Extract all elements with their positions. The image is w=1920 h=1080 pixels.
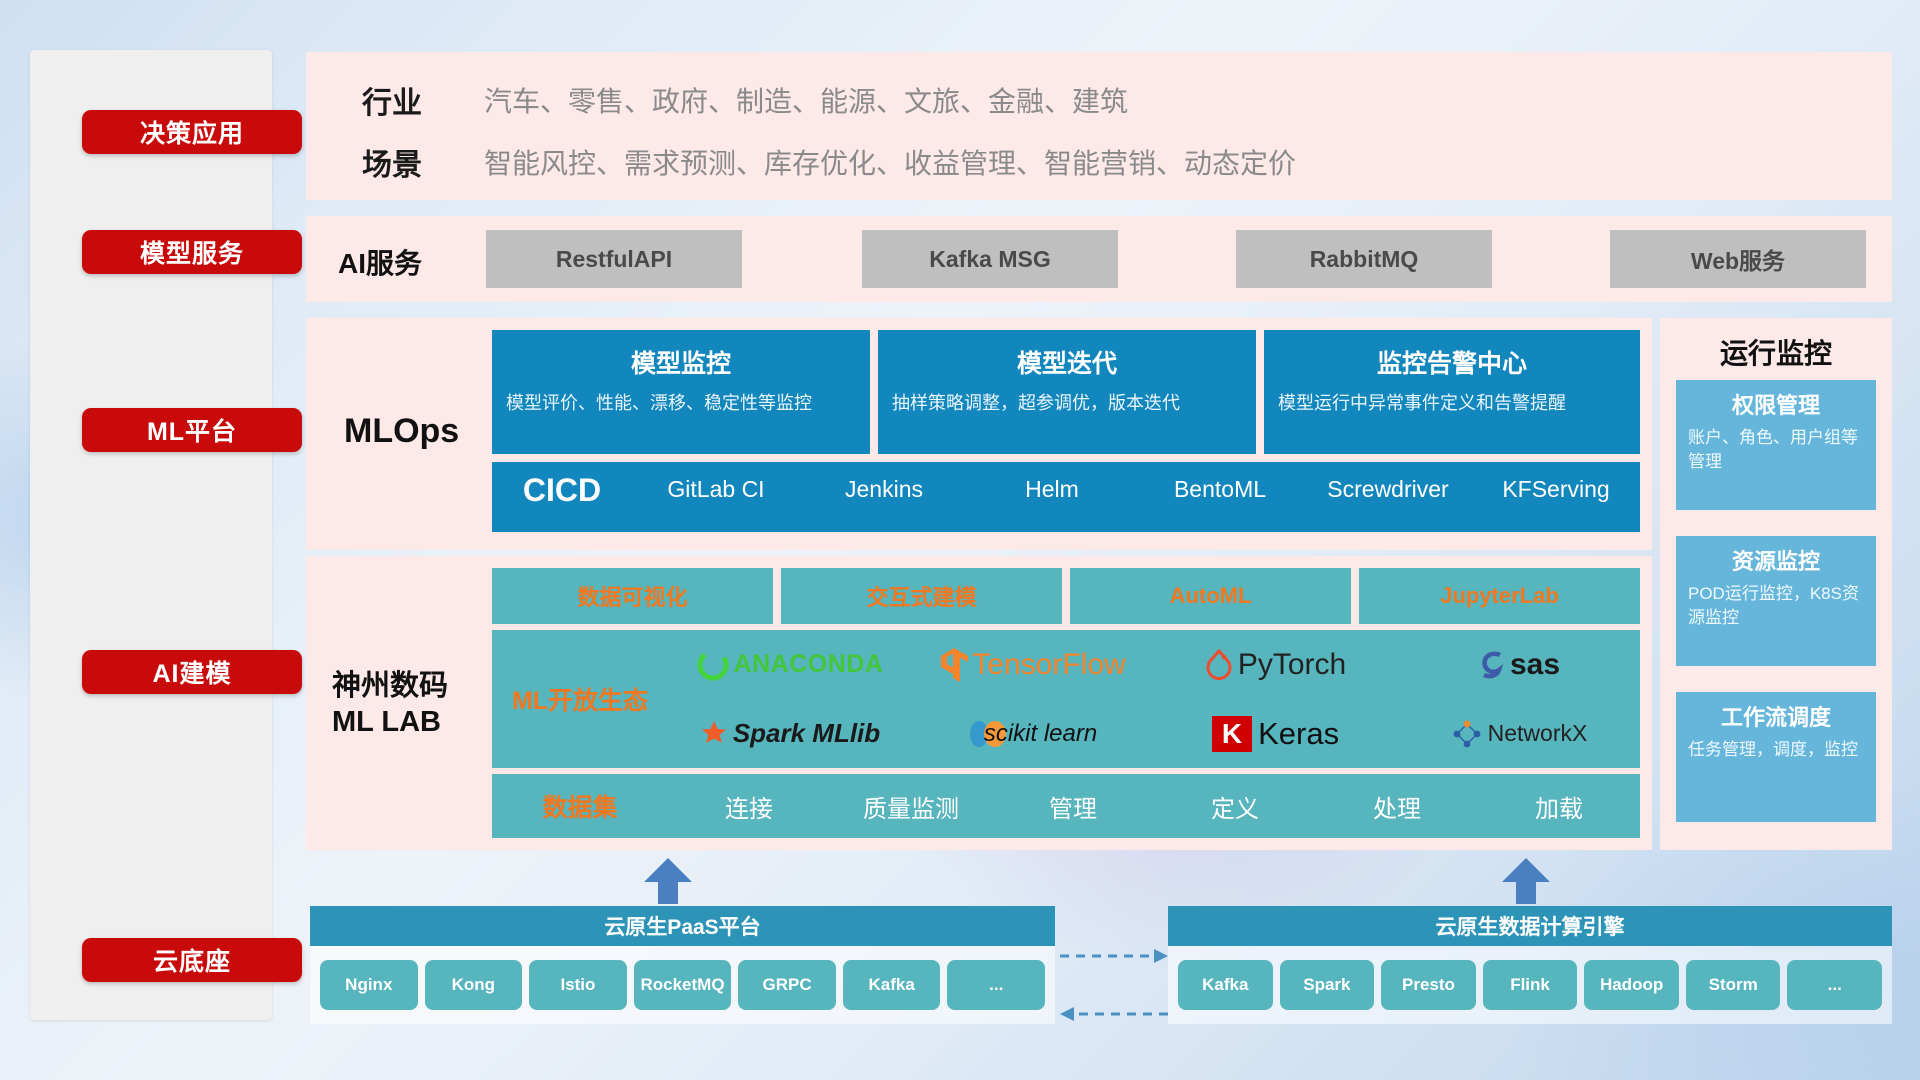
scenario-label: 场景	[362, 140, 422, 184]
card-desc: 抽样策略调整，超参调优，版本迭代	[892, 390, 1242, 416]
industry-label: 行业	[362, 78, 422, 122]
cicd-item-jenkins[interactable]: Jenkins	[800, 462, 968, 502]
ai-chip-label: RestfulAPI	[556, 246, 672, 273]
keras-logo: K Keras	[1212, 716, 1339, 752]
ai-service-label: AI服务	[338, 242, 422, 282]
cicd-row: CICD GitLab CI Jenkins Helm BentoML Scre…	[492, 462, 1640, 532]
sas-text: sas	[1510, 648, 1560, 682]
dataset-row: 数据集 连接 质量监测 管理 定义 处理 加载	[492, 774, 1640, 838]
keras-mark: K	[1212, 716, 1252, 752]
architecture-diagram: 决策应用 模型服务 ML平台 AI建模 云底座 行业 汽车、零售、政府、制造、能…	[0, 0, 1920, 1080]
rail-item-ai-modeling[interactable]: AI建模	[82, 650, 302, 694]
scenario-value: 智能风控、需求预测、库存优化、收益管理、智能营销、动态定价	[484, 142, 1296, 182]
cicd-item-bentoml[interactable]: BentoML	[1136, 462, 1304, 502]
mlops-label: MLOps	[344, 412, 459, 451]
left-rail: 决策应用 模型服务 ML平台 AI建模 云底座	[30, 50, 272, 1020]
dataset-item-define[interactable]: 定义	[1154, 789, 1316, 824]
ml-lab-tabs: 数据可视化 交互式建模 AutoML JupyterLab	[492, 568, 1640, 624]
paas-platform-title: 云原生PaaS平台	[604, 911, 760, 941]
pytorch-logo: PyTorch	[1205, 648, 1346, 682]
ml-lab-panel: 神州数码 ML LAB 数据可视化 交互式建模 AutoML JupyterLa…	[306, 556, 1652, 850]
lab-tab-interactive-modeling[interactable]: 交互式建模	[781, 568, 1062, 624]
engine-chip-more[interactable]: ...	[1787, 960, 1882, 1010]
rail-item-cloud-base[interactable]: 云底座	[82, 938, 302, 982]
anaconda-logo: ANACONDA	[696, 648, 884, 682]
dataset-item-connect[interactable]: 连接	[668, 789, 830, 824]
card-desc: 模型运行中异常事件定义和告警提醒	[1278, 390, 1626, 416]
arrow-up-right-icon	[1498, 858, 1554, 904]
card-desc: 账户、角色、用户组等管理	[1688, 426, 1864, 474]
ai-chip-web-service[interactable]: Web服务	[1610, 230, 1866, 288]
ecosystem-logo-grid: ANACONDA TensorFlow PyTorch sas Spark ML	[668, 630, 1640, 768]
ai-service-panel: AI服务 RestfulAPI Kafka MSG RabbitMQ Web服务	[306, 216, 1892, 302]
industry-scenario-panel: 行业 汽车、零售、政府、制造、能源、文旅、金融、建筑 场景 智能风控、需求预测、…	[306, 52, 1892, 200]
ai-chip-rabbitmq[interactable]: RabbitMQ	[1236, 230, 1492, 288]
sas-logo: sas	[1477, 648, 1560, 682]
paas-platform-bar: 云原生PaaS平台	[310, 906, 1055, 946]
dataset-label: 数据集	[492, 788, 668, 824]
rail-label: AI建模	[152, 654, 231, 690]
lab-tab-jupyterlab[interactable]: JupyterLab	[1359, 568, 1640, 624]
keras-text: Keras	[1258, 716, 1339, 752]
ml-ecosystem-label: ML开放生态	[492, 681, 668, 717]
cicd-item-kfserving[interactable]: KFServing	[1472, 462, 1640, 502]
dataset-item-quality[interactable]: 质量监测	[830, 789, 992, 824]
paas-chip-istio[interactable]: Istio	[529, 960, 627, 1010]
paas-chip-more[interactable]: ...	[947, 960, 1045, 1010]
data-engine-chip-tray: Kafka Spark Presto Flink Hadoop Storm ..…	[1168, 946, 1892, 1024]
card-title: 工作流调度	[1688, 700, 1864, 732]
tensorflow-logo: TensorFlow	[939, 647, 1125, 683]
paas-chip-kong[interactable]: Kong	[425, 960, 523, 1010]
data-engine-title: 云原生数据计算引擎	[1436, 911, 1625, 941]
cicd-item-gitlab-ci[interactable]: GitLab CI	[632, 462, 800, 502]
engine-chip-flink[interactable]: Flink	[1483, 960, 1578, 1010]
card-desc: POD运行监控，K8S资源监控	[1688, 582, 1864, 630]
rail-label: 模型服务	[140, 234, 244, 270]
bidirectional-connector-icon	[1058, 940, 1170, 1030]
monitoring-card-resource[interactable]: 资源监控 POD运行监控，K8S资源监控	[1676, 536, 1876, 666]
runtime-monitoring-panel: 运行监控 权限管理 账户、角色、用户组等管理 资源监控 POD运行监控，K8S资…	[1660, 318, 1892, 850]
card-desc: 模型评价、性能、漂移、稳定性等监控	[506, 390, 856, 416]
anaconda-text: ANACONDA	[734, 650, 884, 679]
rail-item-model-service[interactable]: 模型服务	[82, 230, 302, 274]
dataset-item-process[interactable]: 处理	[1316, 789, 1478, 824]
spark-mllib-logo: Spark MLlib	[699, 718, 880, 749]
mlops-card-alert-center[interactable]: 监控告警中心 模型运行中异常事件定义和告警提醒	[1264, 330, 1640, 454]
engine-chip-presto[interactable]: Presto	[1381, 960, 1476, 1010]
networkx-text: NetworkX	[1488, 720, 1588, 747]
mlops-card-model-monitoring[interactable]: 模型监控 模型评价、性能、漂移、稳定性等监控	[492, 330, 870, 454]
paas-chip-grpc[interactable]: GRPC	[738, 960, 836, 1010]
card-title: 资源监控	[1688, 544, 1864, 576]
ml-lab-label-line1: 神州数码	[332, 668, 448, 704]
ai-chip-kafka-msg[interactable]: Kafka MSG	[862, 230, 1118, 288]
spark-mllib-text: Spark MLlib	[733, 718, 880, 749]
card-desc: 任务管理，调度，监控	[1688, 738, 1864, 762]
monitoring-card-permission[interactable]: 权限管理 账户、角色、用户组等管理	[1676, 380, 1876, 510]
card-title: 监控告警中心	[1278, 344, 1626, 380]
monitoring-title: 运行监控	[1660, 332, 1892, 372]
mlops-panel: MLOps 模型监控 模型评价、性能、漂移、稳定性等监控 模型迭代 抽样策略调整…	[306, 318, 1652, 550]
engine-chip-hadoop[interactable]: Hadoop	[1584, 960, 1679, 1010]
arrow-up-left-icon	[640, 858, 696, 904]
cicd-item-helm[interactable]: Helm	[968, 462, 1136, 502]
card-title: 模型迭代	[892, 344, 1242, 380]
cicd-title: CICD	[492, 462, 632, 509]
networkx-logo: NetworkX	[1450, 718, 1588, 750]
engine-chip-spark[interactable]: Spark	[1280, 960, 1375, 1010]
rail-label: ML平台	[147, 412, 237, 448]
ml-lab-label: 神州数码 ML LAB	[332, 668, 448, 741]
paas-chip-tray: Nginx Kong Istio RocketMQ GRPC Kafka ...	[310, 946, 1055, 1024]
card-title: 模型监控	[506, 344, 856, 380]
lab-tab-data-visualization[interactable]: 数据可视化	[492, 568, 773, 624]
rail-item-ml-platform[interactable]: ML平台	[82, 408, 302, 452]
scikit-learn-logo: scikit learn	[968, 717, 1097, 751]
monitoring-card-workflow[interactable]: 工作流调度 任务管理，调度，监控	[1676, 692, 1876, 822]
ai-chip-label: RabbitMQ	[1310, 246, 1419, 273]
engine-chip-storm[interactable]: Storm	[1686, 960, 1781, 1010]
dataset-item-load[interactable]: 加载	[1478, 789, 1640, 824]
pytorch-text: PyTorch	[1238, 648, 1346, 682]
lab-tab-automl[interactable]: AutoML	[1070, 568, 1351, 624]
ml-lab-label-line2: ML LAB	[332, 704, 448, 740]
cicd-item-screwdriver[interactable]: Screwdriver	[1304, 462, 1472, 502]
scikit-learn-text: scikit learn	[984, 720, 1097, 748]
industry-value: 汽车、零售、政府、制造、能源、文旅、金融、建筑	[484, 80, 1128, 120]
ai-chip-restfulapi[interactable]: RestfulAPI	[486, 230, 742, 288]
rail-item-decision-app[interactable]: 决策应用	[82, 110, 302, 154]
tensorflow-text: TensorFlow	[972, 648, 1125, 682]
card-title: 权限管理	[1688, 388, 1864, 420]
dataset-item-manage[interactable]: 管理	[992, 789, 1154, 824]
paas-chip-rocketmq[interactable]: RocketMQ	[634, 960, 732, 1010]
engine-chip-kafka[interactable]: Kafka	[1178, 960, 1273, 1010]
rail-label: 决策应用	[140, 114, 244, 150]
ai-chip-label: Web服务	[1691, 242, 1785, 276]
rail-label: 云底座	[153, 942, 231, 978]
paas-chip-nginx[interactable]: Nginx	[320, 960, 418, 1010]
ai-chip-label: Kafka MSG	[929, 246, 1050, 273]
data-engine-bar: 云原生数据计算引擎	[1168, 906, 1892, 946]
mlops-card-model-iteration[interactable]: 模型迭代 抽样策略调整，超参调优，版本迭代	[878, 330, 1256, 454]
paas-chip-kafka[interactable]: Kafka	[843, 960, 941, 1010]
ml-ecosystem-row: ML开放生态 ANACONDA TensorFlow PyTorch sas	[492, 630, 1640, 768]
